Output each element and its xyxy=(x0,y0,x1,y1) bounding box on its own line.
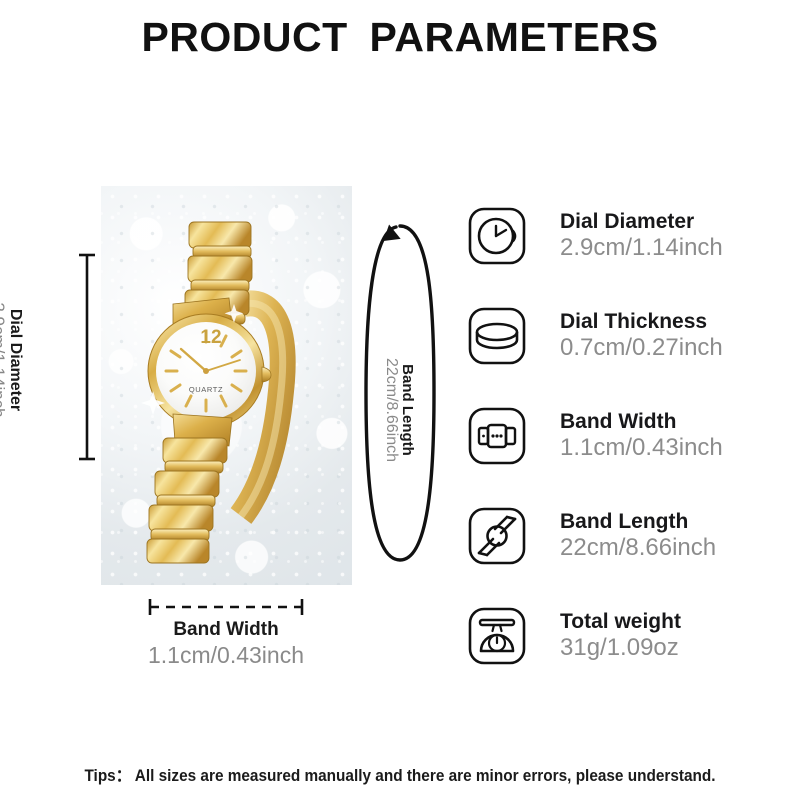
spec-value-dial-thickness: 0.7cm/0.27inch xyxy=(560,335,723,361)
page-title: PRODUCT PARAMETERS xyxy=(0,14,800,61)
spec-label-dial-diameter: Dial Diameter xyxy=(560,211,723,234)
dial-diameter-annotation-value: 2.9cm/1.14inch xyxy=(0,265,7,455)
spec-text-dial-thickness: Dial Thickness 0.7cm/0.27inch xyxy=(560,311,723,361)
dial-diameter-dimension-line xyxy=(78,252,96,462)
spec-row-dial-thickness: Dial Thickness 0.7cm/0.27inch xyxy=(466,286,786,386)
spec-label-band-length: Band Length xyxy=(560,511,716,534)
spec-row-band-length: Band Length 22cm/8.66inch xyxy=(466,486,786,586)
spec-text-band-length: Band Length 22cm/8.66inch xyxy=(560,511,716,561)
watch-illustration: 12 QUARTZ xyxy=(101,186,352,585)
kitchen-scale-icon xyxy=(466,605,528,667)
spec-value-total-weight: 31g/1.09oz xyxy=(560,635,681,661)
spec-label-dial-thickness: Dial Thickness xyxy=(560,311,723,334)
disc-thickness-icon xyxy=(466,305,528,367)
band-length-annotation-value: 22cm/8.66inch xyxy=(382,305,399,515)
watch-dial-icon xyxy=(466,205,528,267)
band-clasp-icon xyxy=(466,405,528,467)
watch-strap-icon xyxy=(466,505,528,567)
spec-text-dial-diameter: Dial Diameter 2.9cm/1.14inch xyxy=(560,211,723,261)
product-photo: 12 QUARTZ xyxy=(101,186,352,585)
band-width-dimension-line xyxy=(146,598,306,616)
spec-row-band-width: Band Width 1.1cm/0.43inch xyxy=(466,386,786,486)
dial-diameter-annotation-title: Dial Diameter xyxy=(7,265,24,455)
spec-text-band-width: Band Width 1.1cm/0.43inch xyxy=(560,411,723,461)
spec-row-dial-diameter: Dial Diameter 2.9cm/1.14inch xyxy=(466,186,786,286)
spec-label-total-weight: Total weight xyxy=(560,611,681,634)
band-length-annotation-label: Band Length 22cm/8.66inch xyxy=(375,305,415,515)
band-width-annotation-label: Band Width 1.1cm/0.43inch xyxy=(96,620,356,668)
dial-diameter-annotation-label: Dial Diameter 2.9cm/1.14inch xyxy=(0,265,24,455)
spec-label-band-width: Band Width xyxy=(560,411,723,434)
svg-text:QUARTZ: QUARTZ xyxy=(189,385,223,394)
band-width-annotation-value: 1.1cm/0.43inch xyxy=(96,643,356,668)
spec-value-band-width: 1.1cm/0.43inch xyxy=(560,435,723,461)
spec-list: Dial Diameter 2.9cm/1.14inch Dial Thickn… xyxy=(466,186,786,686)
band-length-annotation-title: Band Length xyxy=(399,305,415,515)
spec-row-total-weight: Total weight 31g/1.09oz xyxy=(466,586,786,686)
spec-value-band-length: 22cm/8.66inch xyxy=(560,535,716,561)
svg-text:12: 12 xyxy=(200,327,221,348)
spec-text-total-weight: Total weight 31g/1.09oz xyxy=(560,611,681,661)
tips-note: Tips： All sizes are measured manually an… xyxy=(28,762,772,786)
band-width-annotation-title: Band Width xyxy=(96,620,356,641)
spec-value-dial-diameter: 2.9cm/1.14inch xyxy=(560,235,723,261)
